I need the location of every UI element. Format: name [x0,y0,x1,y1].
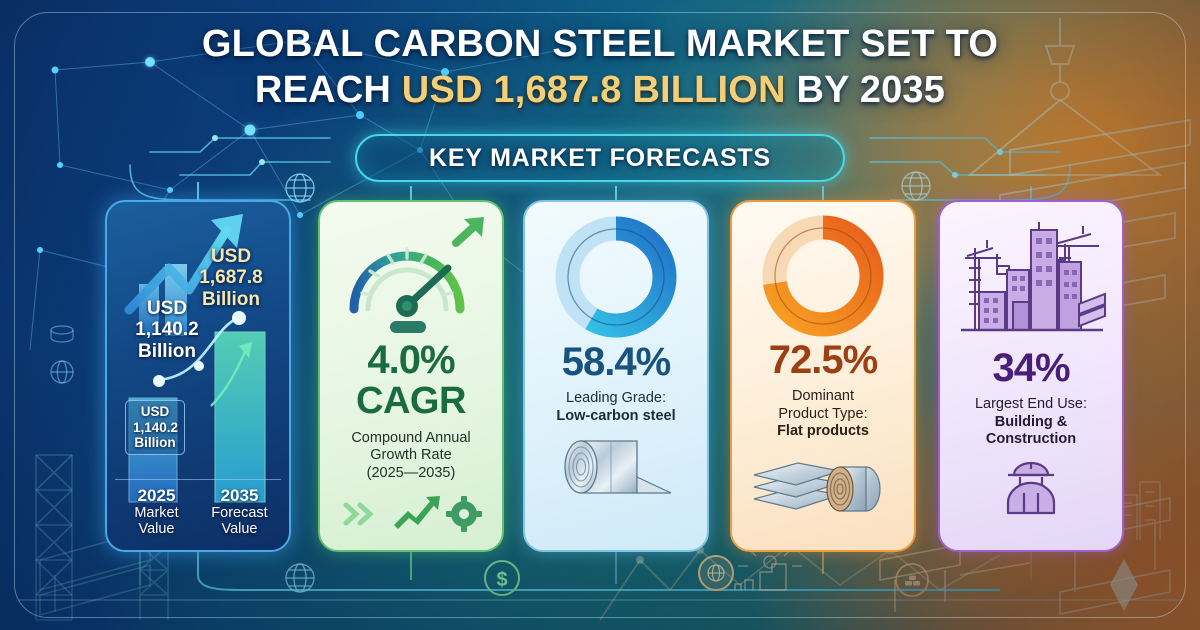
card1-bar-label-2025: USD 1,140.2 Billion [125,400,185,455]
gear-icon [446,496,482,532]
card-market-value-growth[interactable]: USD 1,687.8 Billion USD 1,140.2 Billion … [105,200,291,552]
cagr-value: 4.0% [367,340,454,380]
title-line-1: GLOBAL CARBON STEEL MARKET SET TO [0,22,1200,68]
infographic-canvas: $ [0,0,1200,630]
key-market-forecasts-banner: KEY MARKET FORECASTS [355,134,845,182]
forecast-cards-row: USD 1,687.8 Billion USD 1,140.2 Billion … [0,200,1200,552]
donut-chart-icon [762,215,884,337]
trend-up-arrow-icon [394,496,440,529]
city-construction-cranes-icon [953,212,1109,346]
cagr-word: CAGR [356,382,466,421]
card1-axis: 2025 Market Value 2035 Forecast Value [115,479,281,538]
page-title: GLOBAL CARBON STEEL MARKET SET TO REACH … [0,22,1200,113]
speedometer-gauge-icon [336,213,486,338]
dominant-product-caption: Dominant Product Type: Flat products [771,388,875,441]
steel-sheets-coil-icon [748,445,898,519]
title-line-2-pre: REACH [255,69,402,111]
leading-grade-value: 58.4% [562,342,670,382]
largest-end-use-caption: Largest End Use: Building & Construction [969,396,1093,449]
title-highlight-value: USD 1,687.8 BILLION [402,69,786,111]
axis-col-2025: 2025 Market Value [115,486,198,538]
axis-col-2035: 2035 Forecast Value [198,486,281,538]
dominant-product-value: 72.5% [769,340,877,380]
card-cagr[interactable]: 4.0% CAGR Compound Annual Growth Rate (2… [318,200,504,552]
cagr-caption: Compound Annual Growth Rate (2025—2035) [345,430,476,483]
card-largest-end-use[interactable]: 34% Largest End Use: Building & Construc… [938,200,1124,552]
construction-worker-icon [994,457,1068,515]
steel-coil-icon [551,431,681,509]
card-leading-grade[interactable]: 58.4% Leading Grade: Low-carbon steel [523,200,709,552]
cagr-footer-icons [336,493,486,533]
title-line-2: REACH USD 1,687.8 BILLION BY 2035 [0,68,1200,114]
chevrons-right-icon [346,505,370,523]
banner-label: KEY MARKET FORECASTS [429,144,771,173]
card-dominant-product-type[interactable]: 72.5% Dominant Product Type: Flat produc… [730,200,916,552]
card1-callout-2025: USD 1,140.2 Billion [115,298,219,362]
title-line-2-post: BY 2035 [786,69,945,111]
leading-grade-caption: Leading Grade: Low-carbon steel [550,390,681,425]
donut-chart-icon [555,216,677,338]
largest-end-use-value: 34% [992,348,1069,388]
